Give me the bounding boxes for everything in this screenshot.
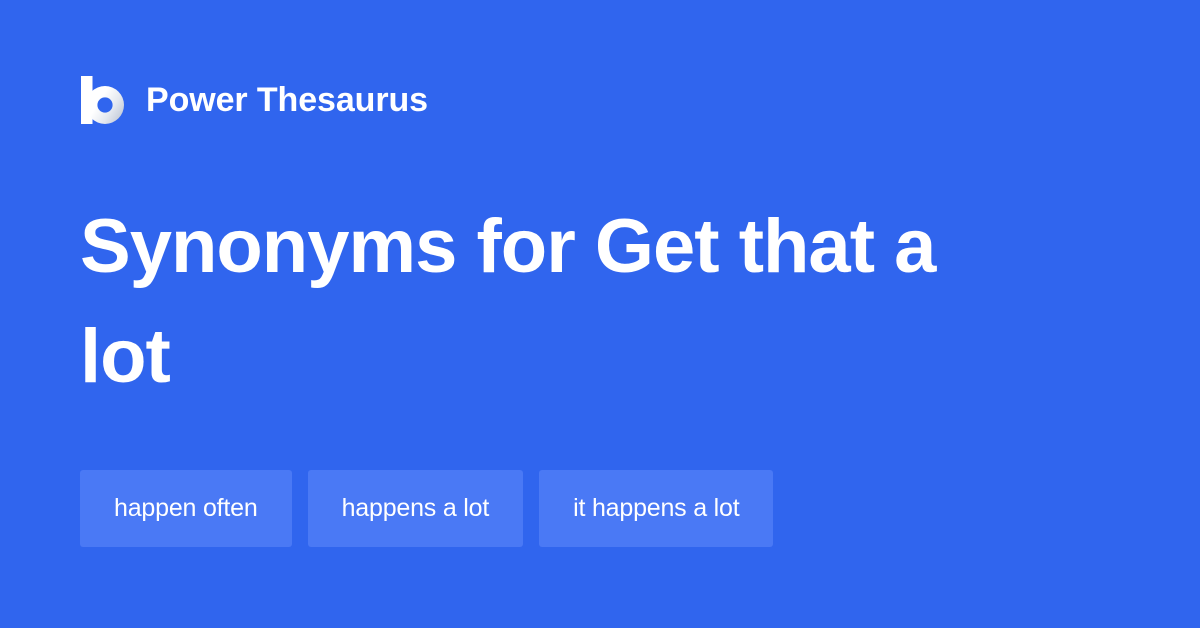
brand-name: Power Thesaurus — [146, 83, 428, 117]
share-card: Power Thesaurus Synonyms for Get that a … — [0, 0, 1200, 628]
synonym-chip[interactable]: it happens a lot — [539, 470, 773, 547]
synonym-chip[interactable]: happen often — [80, 470, 292, 547]
brand-header[interactable]: Power Thesaurus — [80, 74, 428, 126]
synonym-chip[interactable]: happens a lot — [308, 470, 524, 547]
power-thesaurus-b-logo-icon — [80, 74, 124, 126]
page-title: Synonyms for Get that a lot — [80, 192, 1030, 412]
synonym-chip-list: happen often happens a lot it happens a … — [80, 470, 773, 547]
